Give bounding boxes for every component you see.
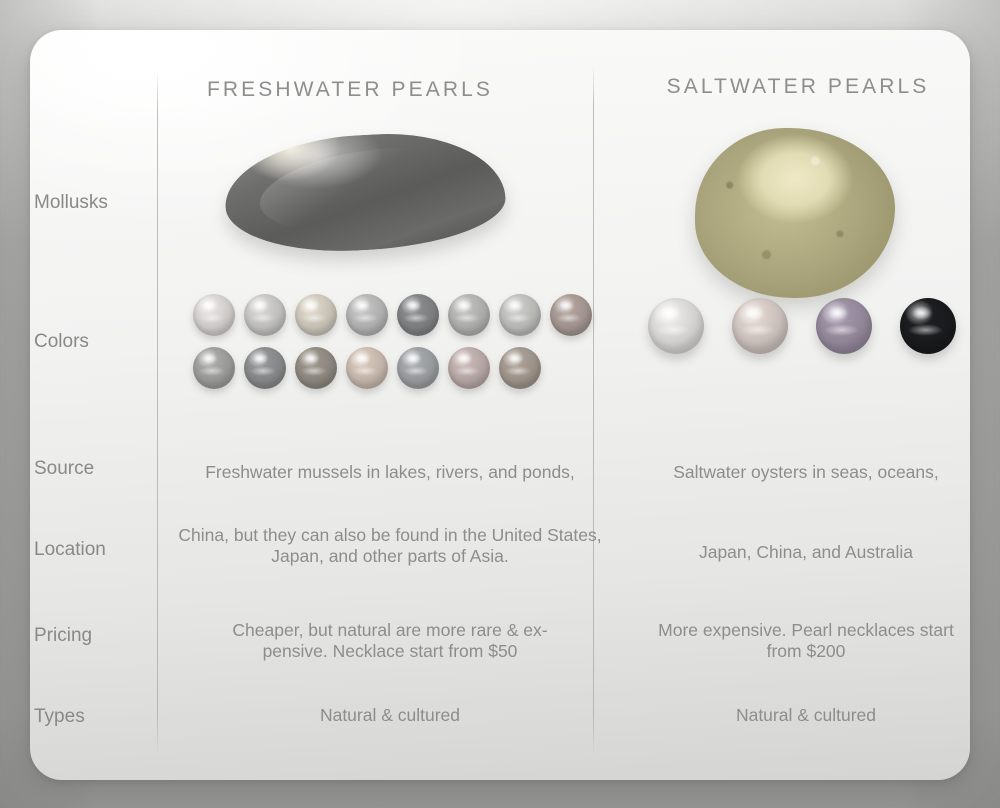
saltwater-pearl-row-1: [648, 298, 956, 354]
pearl-swatch-freshwater-r1-2: [244, 294, 286, 336]
pearl-swatch-freshwater-r1-3: [295, 294, 337, 336]
freshwater-source-text: Freshwater mussels in lakes, rivers, and…: [170, 462, 610, 483]
pearl-swatch-freshwater-r1-4: [346, 294, 388, 336]
pearl-swatch-saltwater-4: [900, 298, 956, 354]
saltwater-pricing-text: More expensive. Pearl necklaces start fr…: [596, 620, 970, 661]
saltwater-source-text: Saltwater oysters in seas, oceans,: [596, 462, 970, 483]
freshwater-pearl-row-1: [193, 294, 592, 336]
pearl-swatch-freshwater-r1-6: [448, 294, 490, 336]
freshwater-pricing-line-2: pensive. Necklace start from $50: [170, 641, 610, 662]
row-label-source: Source: [34, 458, 154, 480]
saltwater-pricing-line-1: More expensive. Pearl necklaces start: [596, 620, 970, 641]
freshwater-pricing-line-1: Cheaper, but natural are more rare & ex-: [170, 620, 610, 641]
saltwater-location-text: Japan, China, and Australia: [596, 542, 970, 563]
row-label-location: Location: [34, 539, 154, 561]
row-label-pricing: Pricing: [34, 625, 154, 647]
pearl-swatch-freshwater-r2-3: [295, 347, 337, 389]
pearl-swatch-freshwater-r2-5: [397, 347, 439, 389]
freshwater-location-text: China, but they can also be found in the…: [170, 525, 610, 566]
freshwater-pearl-swatches: [193, 294, 592, 389]
saltwater-pearl-swatches: [648, 298, 956, 354]
pearl-swatch-freshwater-r2-7: [499, 347, 541, 389]
pearl-swatch-freshwater-r2-2: [244, 347, 286, 389]
mussel-shell-sheen: [254, 135, 476, 243]
row-label-mollusks: Mollusks: [34, 192, 154, 214]
pearl-swatch-freshwater-r2-6: [448, 347, 490, 389]
freshwater-pricing-text: Cheaper, but natural are more rare & ex-…: [170, 620, 610, 661]
saltwater-pricing-line-2: from $200: [596, 641, 970, 662]
freshwater-column-title: FRESHWATER PEARLS: [130, 78, 570, 102]
pearl-swatch-saltwater-1: [648, 298, 704, 354]
pearl-swatch-freshwater-r1-7: [499, 294, 541, 336]
column-divider-left: [157, 70, 158, 755]
pearl-swatch-freshwater-r2-4: [346, 347, 388, 389]
freshwater-pearl-row-2: [193, 347, 592, 389]
pearl-swatch-saltwater-2: [732, 298, 788, 354]
freshwater-types-text: Natural & cultured: [170, 705, 610, 726]
pearl-swatch-freshwater-r2-1: [193, 347, 235, 389]
mussel-shell-body: [222, 128, 508, 257]
row-label-colors: Colors: [34, 331, 154, 353]
saltwater-column-title: SALTWATER PEARLS: [596, 75, 970, 99]
comparison-card: FRESHWATER PEARLS SALTWATER PEARLS Mollu…: [30, 30, 970, 780]
freshwater-mussel-image: [225, 135, 505, 250]
row-label-types: Types: [34, 706, 154, 728]
pearl-swatch-freshwater-r1-5: [397, 294, 439, 336]
pearl-swatch-saltwater-3: [816, 298, 872, 354]
saltwater-types-text: Natural & cultured: [596, 705, 970, 726]
pearl-swatch-freshwater-r1-1: [193, 294, 235, 336]
pearl-swatch-freshwater-r1-8: [550, 294, 592, 336]
saltwater-oyster-image: [695, 128, 895, 298]
oyster-shell-texture: [693, 126, 897, 300]
